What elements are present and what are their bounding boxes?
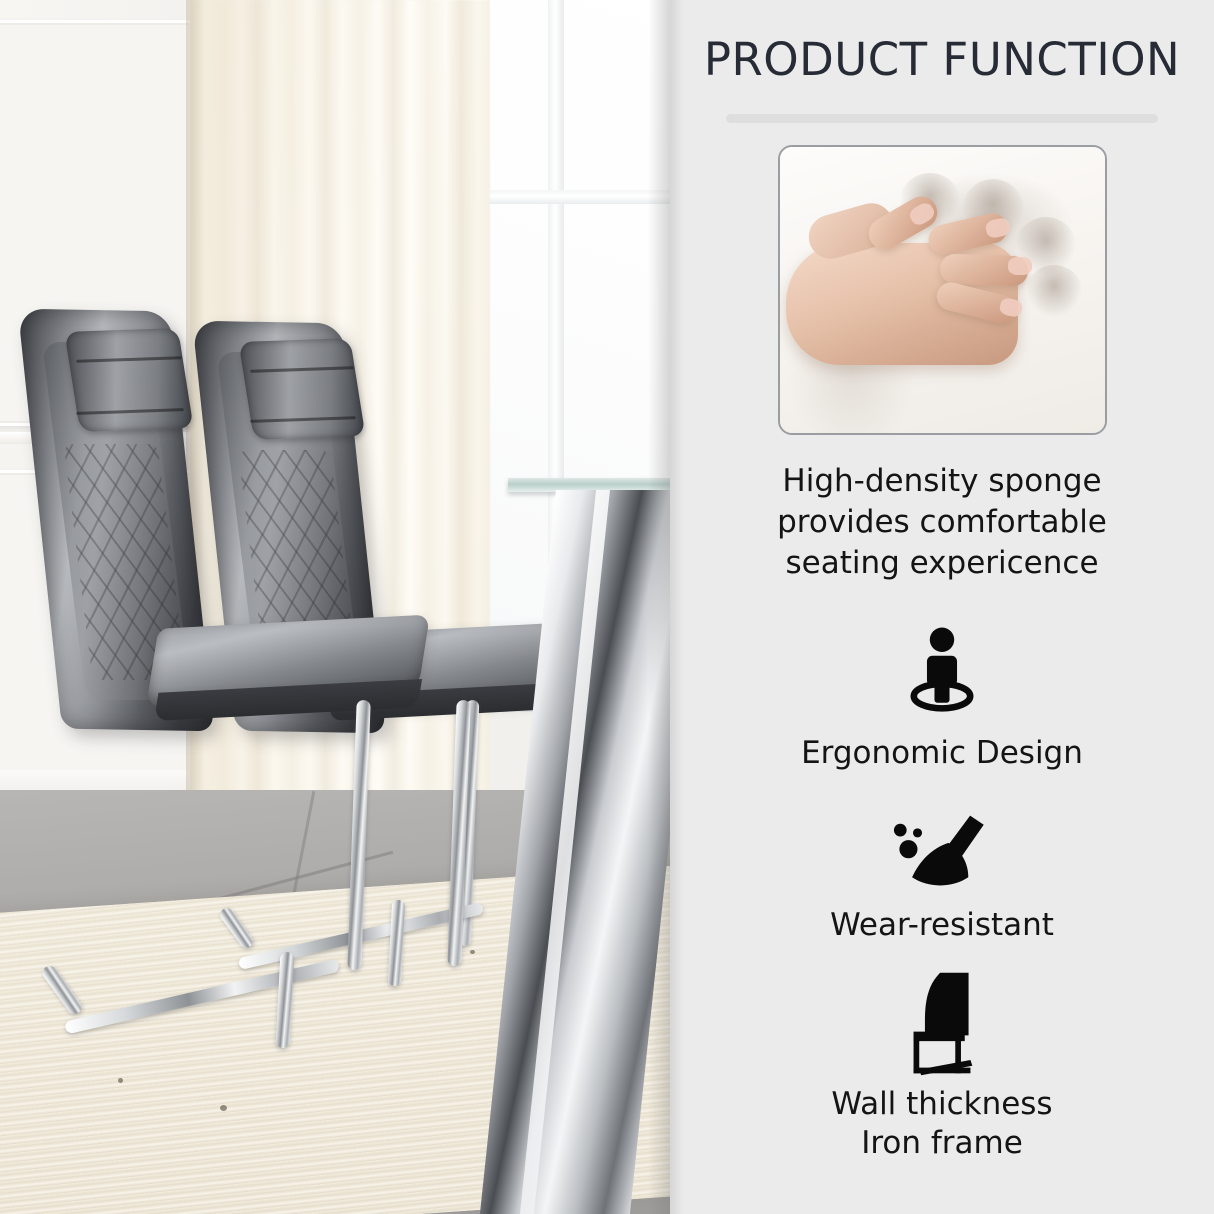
feature-label: Ergonomic Design	[801, 734, 1083, 773]
feature-label: Wear-resistant	[830, 906, 1054, 945]
feature-label: Wall thickness Iron frame	[831, 1085, 1052, 1163]
product-feature-poster: PRODUCT FUNCTION High-density sponge pro…	[0, 0, 1214, 1214]
person-in-circle-icon	[895, 620, 989, 714]
feature-info-panel: PRODUCT FUNCTION High-density sponge pro…	[670, 0, 1214, 1214]
hero-caption-line1: High-density sponge	[727, 461, 1157, 502]
hero-caption-line3: seating expericence	[727, 543, 1157, 584]
hero-caption: High-density sponge provides comfortable…	[727, 461, 1157, 584]
rug-speck	[470, 950, 475, 954]
foam-dimple	[1026, 265, 1082, 317]
cantilever-chair-icon	[896, 969, 988, 1079]
rug-speck	[220, 1105, 227, 1111]
fingernail	[1008, 257, 1032, 275]
feature-label-line2: Iron frame	[831, 1124, 1052, 1163]
title-divider	[726, 114, 1158, 123]
hero-caption-line2: provides comfortable	[727, 502, 1157, 543]
broom-sweeping-icon	[892, 812, 992, 890]
feature-wear-resistant: Wear-resistant	[830, 812, 1054, 945]
feature-ergonomic-design: Ergonomic Design	[801, 620, 1083, 773]
feature-label-line1: Wall thickness	[831, 1085, 1052, 1124]
rug-speck	[118, 1078, 123, 1083]
sponge-demo-image	[778, 145, 1107, 435]
feature-iron-frame: Wall thickness Iron frame	[831, 969, 1052, 1163]
page-title: PRODUCT FUNCTION	[670, 33, 1214, 86]
product-photo	[0, 0, 670, 1214]
panel-divider-shadow	[648, 0, 670, 1214]
